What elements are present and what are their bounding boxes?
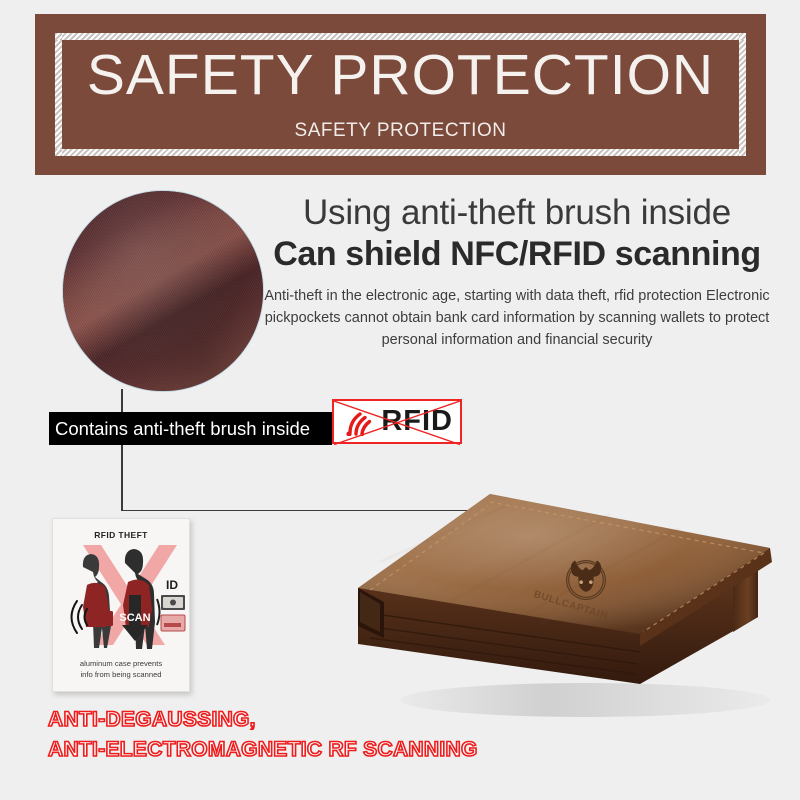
claims-block: ANTI-DEGAUSSING, ANTI-ELECTROMAGNETIC RF… (48, 705, 608, 765)
wallet-product-image: BULLCAPTAIN (340, 412, 800, 732)
banner-text-group: SAFETY PROTECTION SAFETY PROTECTION (35, 14, 766, 175)
money-card-icon (161, 595, 185, 610)
scan-arrow-label: SCAN (119, 612, 150, 624)
banner-subtitle: SAFETY PROTECTION (295, 120, 507, 142)
briefcase-left (91, 611, 113, 626)
caption-line-1: aluminum case prevents (80, 659, 162, 668)
callout-label-bar: Contains anti-theft brush inside (49, 412, 332, 445)
headline-block: Using anti-theft brush inside Can shield… (262, 193, 772, 352)
caption-line-2: info from being scanned (80, 670, 161, 679)
callout-label-text: Contains anti-theft brush inside (49, 418, 310, 440)
banner-title: SAFETY PROTECTION (87, 47, 714, 104)
fabric-swatch-circle (62, 190, 264, 392)
rfid-theft-card-caption: aluminum case prevents info from being s… (53, 658, 189, 680)
rfid-theft-illustration: SCAN ID (53, 537, 189, 655)
fabric-sheen-overlay (63, 191, 263, 391)
id-label: ID (166, 578, 178, 592)
claim-line-2: ANTI-ELECTROMAGNETIC RF SCANNING (48, 735, 608, 765)
headline-line-1: Using anti-theft brush inside (262, 193, 772, 233)
headline-paragraph: Anti-theft in the electronic age, starti… (262, 286, 772, 351)
rfid-theft-card: RFID THEFT SCAN (52, 518, 190, 692)
wallet-illustration: BULLCAPTAIN (340, 412, 800, 732)
headline-line-2: Can shield NFC/RFID scanning (262, 235, 772, 274)
claim-line-1: ANTI-DEGAUSSING, (48, 705, 608, 735)
credit-card-icon (161, 615, 185, 631)
capture-bracket-icon (157, 599, 160, 625)
header-banner: SAFETY PROTECTION SAFETY PROTECTION (35, 14, 766, 175)
product-infographic: SAFETY PROTECTION SAFETY PROTECTION Usin… (0, 0, 800, 800)
leader-line-vertical (121, 389, 123, 511)
